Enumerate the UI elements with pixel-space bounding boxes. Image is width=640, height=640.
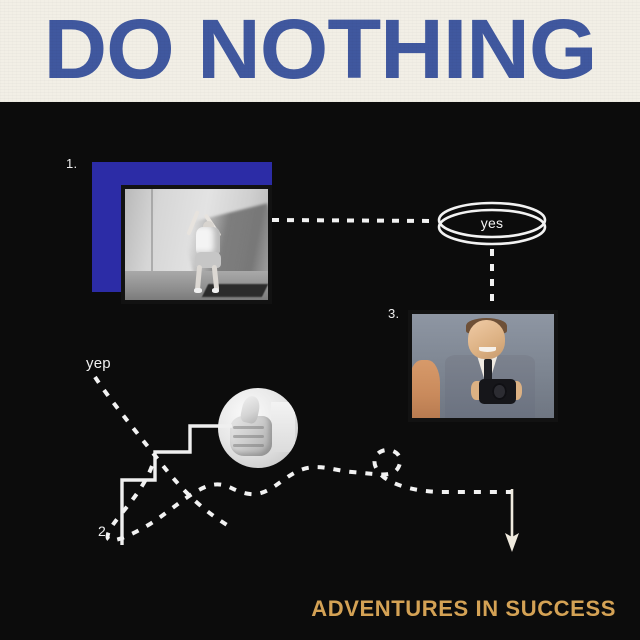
yep-label: yep [86, 355, 111, 372]
figure-left-shoe [194, 288, 202, 293]
step-1-number: 1. [66, 156, 77, 171]
figure-right-shoe [212, 288, 220, 293]
page-title: DO NOTHING [44, 7, 597, 91]
yes-label: yes [436, 215, 548, 231]
photo3-bystander [409, 360, 440, 418]
down-arrow-icon [505, 533, 519, 552]
knuckle-line-1 [233, 426, 264, 429]
yep-dashed-path [95, 377, 232, 528]
thumbs-up-icon [218, 388, 298, 468]
title-band: DO NOTHING [0, 0, 640, 102]
knuckle-line-3 [233, 444, 264, 447]
poster-canvas: DO NOTHING 1. yes 3. [0, 0, 640, 640]
step-3-number: 3. [388, 306, 399, 321]
figure-torso [196, 227, 221, 255]
step-2-label: 2 [98, 523, 106, 539]
footer-caption: ADVENTURES IN SUCCESS [311, 596, 616, 622]
thumb-hand-shape [229, 398, 285, 459]
photo1-wall-seam [151, 189, 153, 271]
step-3-photo [408, 310, 558, 422]
staircase-line [122, 426, 232, 545]
squiggle-dashed-path [108, 450, 512, 540]
knuckle-line-2 [233, 435, 264, 438]
yes-node[interactable]: yes [436, 198, 548, 248]
photo3-man [443, 320, 537, 418]
man-smile [479, 347, 496, 352]
man-head [468, 320, 505, 359]
photo1-figure [182, 213, 233, 291]
connector-photo1-to-yes [272, 220, 436, 221]
step-1-photo [121, 185, 272, 304]
